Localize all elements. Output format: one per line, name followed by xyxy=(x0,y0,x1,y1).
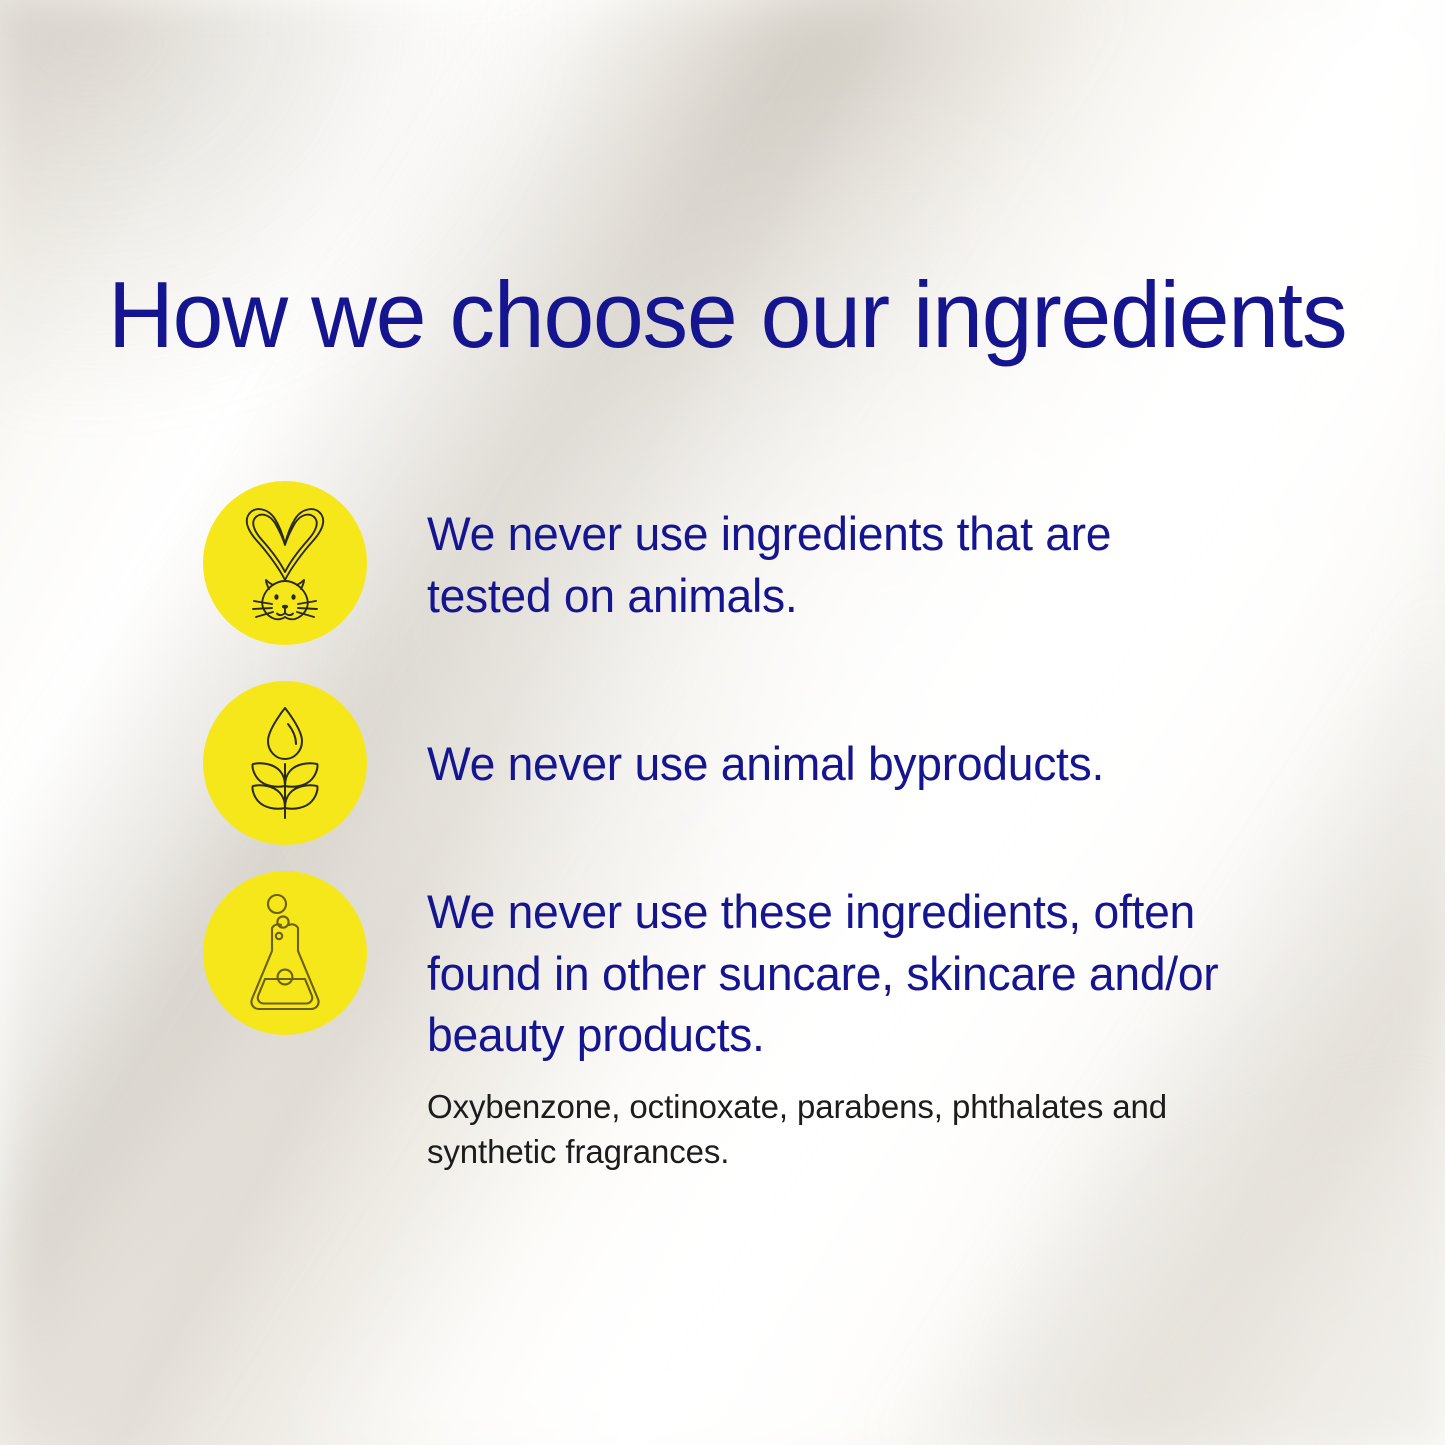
feature-title: We never use these ingredients, often fo… xyxy=(427,871,1284,1066)
feature-item: We never use ingredients that are tested… xyxy=(203,481,1383,645)
feature-icon-badge xyxy=(203,481,367,645)
bunny-heart-ears-icon xyxy=(232,502,338,624)
feature-text-block: We never use ingredients that are tested… xyxy=(427,481,1383,626)
feature-icon-badge xyxy=(203,871,367,1035)
feature-text-block: We never use these ingredients, often fo… xyxy=(427,871,1383,1175)
feature-text-block: We never use animal byproducts. xyxy=(427,681,1383,795)
feature-title: We never use animal byproducts. xyxy=(427,681,1215,795)
chemistry-flask-bubbles-icon xyxy=(234,891,336,1015)
feature-item: We never use these ingredients, often fo… xyxy=(203,871,1383,1175)
feature-icon-badge xyxy=(203,681,367,845)
page-title: How we choose our ingredients xyxy=(108,268,1340,362)
feature-note: Oxybenzone, octinoxate, parabens, phthal… xyxy=(427,1084,1187,1175)
plant-leaf-droplet-icon xyxy=(236,702,334,824)
promo-panel: How we choose our ingredients xyxy=(0,0,1445,1445)
feature-title: We never use ingredients that are tested… xyxy=(427,481,1176,626)
feature-item: We never use animal byproducts. xyxy=(203,681,1383,845)
